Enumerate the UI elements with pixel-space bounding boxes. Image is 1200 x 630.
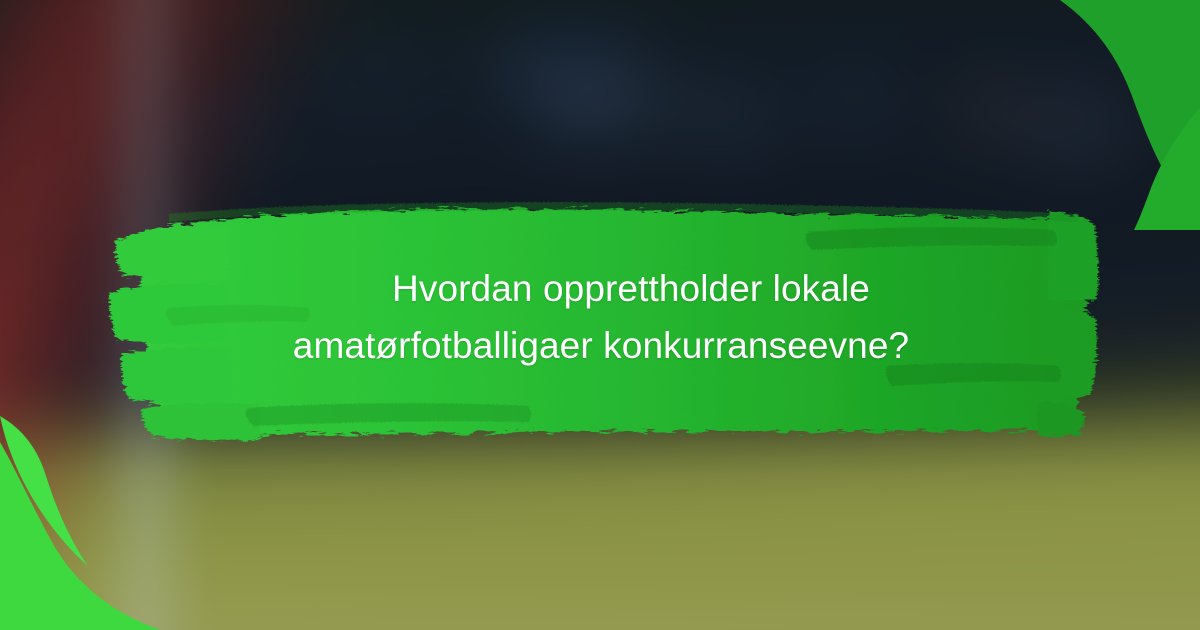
headline-line-2: amatørfotballigaer konkurranseevne? (293, 325, 909, 368)
headline-text-block: Hvordan opprettholder lokale amatørfotba… (108, 196, 1100, 444)
social-share-card: Hvordan opprettholder lokale amatørfotba… (0, 0, 1200, 630)
headline-line-1: Hvordan opprettholder lokale (392, 268, 870, 311)
headline-banner: Hvordan opprettholder lokale amatørfotba… (108, 196, 1100, 444)
